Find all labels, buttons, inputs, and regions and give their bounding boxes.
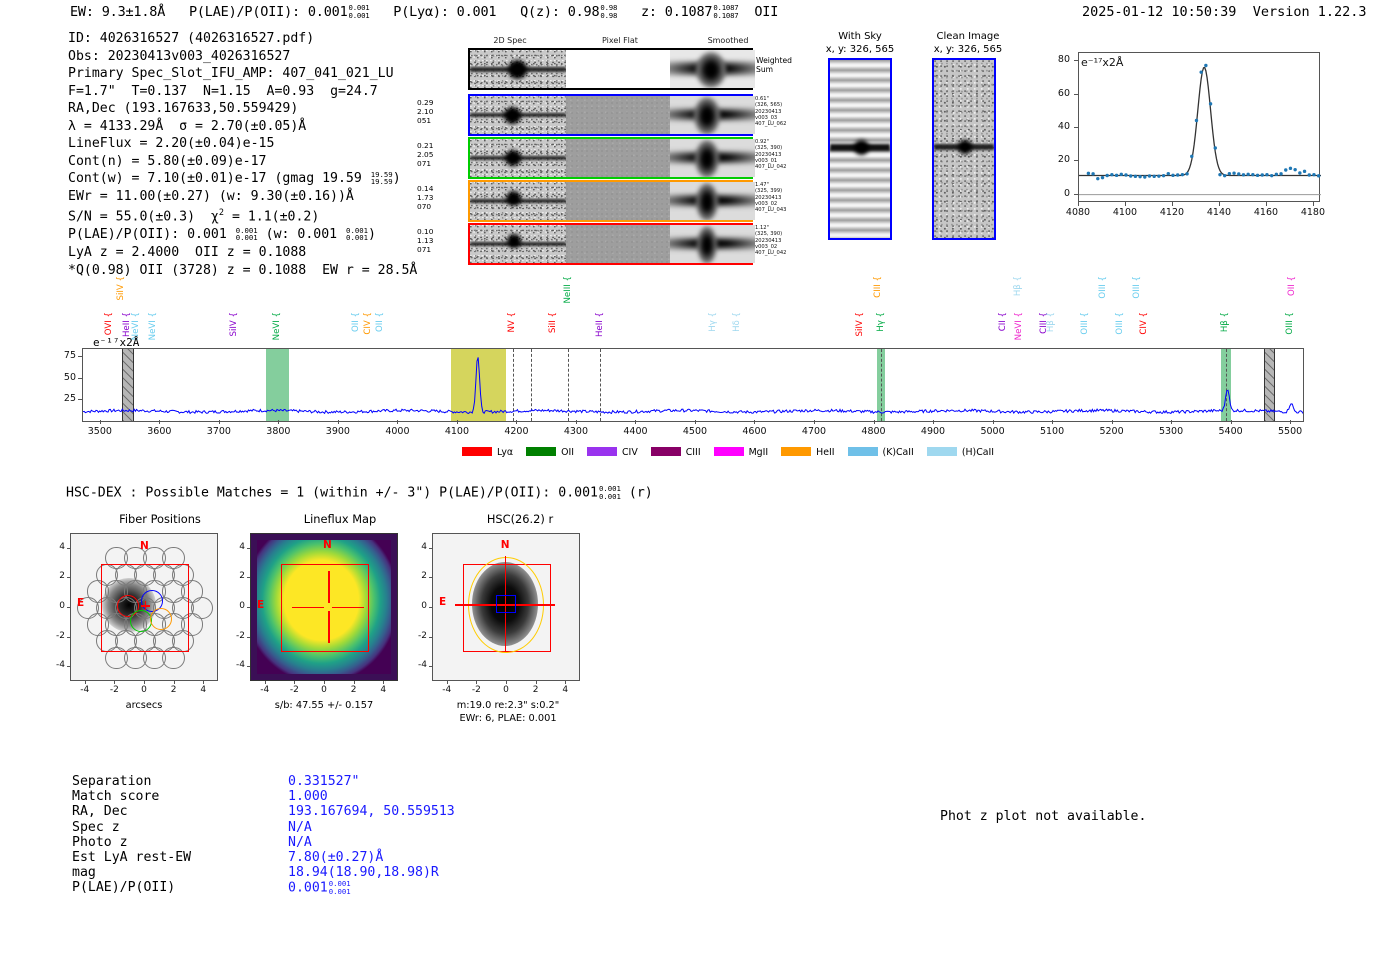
header-plae-poii: P(LAE)/P(OII): 0.001	[189, 4, 348, 20]
info-radec: RA,Dec (193.167633,50.559429)	[68, 100, 417, 118]
cutout-xtick	[324, 681, 325, 684]
sm-core	[695, 140, 719, 177]
spec2d-weighted-sum-row	[468, 48, 753, 90]
ytick-label: 20	[1040, 154, 1070, 165]
right-label: 407_LU_042	[755, 164, 786, 170]
spectrum-xtick	[1171, 420, 1172, 424]
cutout-ytick-label: -2	[408, 631, 427, 641]
spectrum-xtick	[219, 420, 220, 424]
xtick-label: 4080	[1061, 207, 1095, 218]
spectrum-line-label: OII {	[351, 312, 361, 332]
lineflux-map-plot[interactable]: NE	[250, 533, 398, 681]
spectrum-xtick-label: 3600	[137, 426, 181, 437]
match-row-label: RA, Dec	[72, 804, 128, 819]
lineflux-crosshair-top	[328, 571, 330, 603]
raw-blob	[507, 234, 521, 248]
cutout-ytick-label: -2	[226, 631, 245, 641]
cutout-xtick	[203, 681, 204, 684]
cutout-xtick-label: 4	[191, 685, 215, 695]
spec2d-row-right-labels: 1.47"(325, 399)20230413v003_02407_LU_043	[755, 182, 786, 213]
ytick-label: 40	[1040, 121, 1070, 132]
cutout-ytick	[429, 637, 432, 638]
cutout-xtick-label: -2	[282, 685, 306, 695]
cutout-ytick	[429, 548, 432, 549]
cutout-xtick-label: -2	[102, 685, 126, 695]
fiber-crosshair-v	[145, 601, 146, 610]
header-plae-range: 0.0010.001	[349, 4, 370, 19]
spectrum-xtick	[1112, 420, 1113, 424]
spectrum-line-label: NeVI {	[272, 312, 282, 340]
spectrum-xtick-label: 5500	[1268, 426, 1312, 437]
spec2d-row-smoothed	[670, 225, 755, 263]
cutout-xtick-label: 0	[494, 685, 518, 695]
cutout-ytick	[67, 666, 70, 667]
emission-line-axes	[1078, 52, 1320, 202]
legend-swatch	[781, 447, 811, 456]
spec2d-row-smoothed	[670, 96, 755, 134]
cutout-ytick	[67, 607, 70, 608]
spectrum-ytick-label: 25	[48, 393, 76, 404]
legend-label: (H)CaII	[962, 447, 994, 458]
spectrum-xtick-label: 4300	[554, 426, 598, 437]
spectrum-line-label: Hβ {	[1220, 312, 1230, 332]
xtick	[1172, 202, 1173, 206]
spectrum-xtick-label: 4000	[375, 426, 419, 437]
spectrum-line-label: SiIV {	[116, 276, 126, 300]
info-lineflux: LineFlux = 2.20(±0.04)e-15	[68, 135, 417, 153]
xtick	[1078, 202, 1079, 206]
cutout-xtick	[265, 681, 266, 684]
match-row-value: 18.94(18.90,18.98)R	[288, 865, 439, 880]
cutout-ytick-label: 4	[408, 542, 427, 552]
spectrum-xtick	[635, 420, 636, 424]
cutout-xtick-label: -4	[435, 685, 459, 695]
spectrum-xtick	[397, 420, 398, 424]
spectrum-line-label: Hβ {	[1013, 276, 1023, 296]
cutout-ytick	[247, 637, 250, 638]
fiber-east-label: E	[77, 597, 84, 609]
info-redshifts: LyA z = 2.4000 OII z = 0.1088	[68, 244, 417, 262]
cutout-ytick-label: 4	[46, 542, 65, 552]
info-cont-w: Cont(w) = 7.10(±0.01)e-17 (gmag 19.59 19…	[68, 170, 417, 188]
spectrum-xtick	[933, 420, 934, 424]
match-row-value: N/A	[288, 820, 312, 835]
match-row-value: N/A	[288, 835, 312, 850]
spectrum-xtick-label: 4600	[732, 426, 776, 437]
match-row-label: Match score	[72, 789, 159, 804]
cutout-ytick-label: -4	[46, 660, 65, 670]
header-summary-line: EW: 9.3±1.8Å P(LAE)/P(OII): 0.0010.0010.…	[70, 4, 778, 20]
right-label: (325, 390)	[755, 231, 786, 237]
spectrum-legend: LyαOIICIVCIIIMgIIHeII(K)CaII(H)CaII	[462, 447, 1007, 458]
weighted-sum-smoothed	[670, 50, 755, 88]
cutout-xtick	[476, 681, 477, 684]
spectrum-line-label: OIII {	[1080, 312, 1090, 335]
spectrum-line-label: OII {	[375, 312, 385, 332]
legend-swatch	[848, 447, 878, 456]
xtick-label: 4180	[1296, 207, 1330, 218]
legend-item: CIV	[587, 447, 638, 458]
weighted-sum-2dspec	[470, 50, 566, 88]
left-label: 0.21	[417, 141, 433, 150]
cutout-ytick-label: 0	[408, 601, 427, 611]
legend-label: Lyα	[497, 447, 513, 458]
spectrum-xtick-label: 4800	[852, 426, 896, 437]
spectrum-xtick-label: 4700	[792, 426, 836, 437]
ytick-label: 80	[1040, 54, 1070, 65]
match-row-value: 0.331527"	[288, 774, 359, 789]
cutout-xtick	[506, 681, 507, 684]
header-plya: P(Lyα): 0.001	[393, 4, 496, 20]
spectrum-line-label: NeIII {	[563, 276, 573, 304]
cutout-xtick-label: 4	[553, 685, 577, 695]
ytick-label: 60	[1040, 88, 1070, 99]
spectrum-ytick	[78, 399, 82, 400]
timestamp-value: 2025-01-12 10:50:39	[1082, 4, 1236, 20]
detection-info-block: ID: 4026316527 (4026316527.pdf) Obs: 202…	[68, 30, 417, 279]
spectrum-xtick-label: 5300	[1149, 426, 1193, 437]
hsc-title: HSC(26.2) r	[420, 512, 620, 526]
legend-swatch	[714, 447, 744, 456]
spectrum-line-label: NeVI {	[1014, 312, 1024, 340]
spec2d-row[interactable]	[468, 223, 753, 265]
spectrum-ytick	[78, 378, 82, 379]
spectrum-line-label: HeII {	[595, 312, 605, 337]
cutout-xtick	[85, 681, 86, 684]
xtick-label: 4140	[1202, 207, 1236, 218]
fiber-positions-title: Fiber Positions	[60, 512, 260, 526]
spec2d-row-raw	[470, 139, 566, 177]
ytick	[1074, 160, 1078, 161]
xtick	[1219, 202, 1220, 206]
cutout-xtick	[174, 681, 175, 684]
clean-image-title: Clean Image x, y: 326, 565	[916, 30, 1020, 56]
cutout-xtick-label: -4	[253, 685, 277, 695]
cutout-xtick-label: 2	[524, 685, 548, 695]
cutout-ytick-label: 2	[46, 571, 65, 581]
spectrum-axes	[82, 348, 1304, 422]
spectrum-xtick-label: 5400	[1209, 426, 1253, 437]
spectrum-line-label: OVI {	[104, 312, 114, 335]
left-label: 0.29	[417, 98, 433, 107]
cutout-xtick	[114, 681, 115, 684]
match-row-value: 7.80(±0.27)Å	[288, 850, 383, 865]
spec2d-row-raw	[470, 225, 566, 263]
match-row-value: 1.000	[288, 789, 328, 804]
cutout-xtick-label: 2	[162, 685, 186, 695]
legend-swatch	[462, 447, 492, 456]
hsc-north-label: N	[501, 539, 510, 551]
header-species: OII	[754, 4, 778, 20]
legend-label: (K)CaII	[883, 447, 914, 458]
spectrum-line-label: CIII {	[873, 276, 883, 298]
emission-line-units: e⁻¹⁷x2Å	[1081, 56, 1123, 69]
fiber-positions-plot[interactable]: NE	[70, 533, 218, 681]
match-plae-range: 0.0010.001	[329, 880, 351, 895]
info-gmag-range: 19.5919.59	[371, 171, 393, 186]
left-label: 2.05	[417, 150, 433, 159]
cutout-xtick-label: -2	[464, 685, 488, 695]
raw-blob	[504, 107, 521, 124]
match-row-value: 193.167694, 50.559513	[288, 804, 455, 819]
spectrum-xtick	[100, 420, 101, 424]
fiber-xlabel: arcsecs	[84, 700, 204, 711]
fiber-north-label: N	[140, 540, 149, 552]
spectrum-xtick-label: 3700	[197, 426, 241, 437]
emission-line-plot: e⁻¹⁷x2Å 40804100412041404160418002040608…	[1032, 30, 1332, 260]
sm-core	[696, 183, 718, 220]
legend-label: OII	[561, 447, 574, 458]
spec2d-row-left-labels: 0.212.05071	[417, 141, 433, 169]
hsc-detection-marker	[496, 595, 516, 613]
legend-label: CIV	[622, 447, 638, 458]
legend-item: OII	[526, 447, 574, 458]
left-label: 0.14	[417, 184, 433, 193]
cutout-ytick	[67, 548, 70, 549]
spec2d-row-flat	[566, 96, 670, 134]
legend-swatch	[927, 447, 957, 456]
legend-label: HeII	[816, 447, 834, 458]
cutout-xtick-label: -4	[73, 685, 97, 695]
spectrum-xtick	[338, 420, 339, 424]
cutout-ytick	[67, 577, 70, 578]
spectrum-xtick	[1290, 420, 1291, 424]
spectrum-xtick-label: 3500	[78, 426, 122, 437]
legend-item: (H)CaII	[927, 447, 994, 458]
spec2d-row-left-labels: 0.101.13071	[417, 227, 433, 255]
lineflux-map-title: Lineflux Map	[240, 512, 440, 526]
weighted-sum-pixelflat	[566, 50, 670, 88]
spectrum-line-label: CIV {	[1139, 312, 1149, 335]
match-row-label: mag	[72, 865, 96, 880]
left-label: 051	[417, 116, 433, 125]
cutout-ytick	[429, 607, 432, 608]
spectrum-xtick	[874, 420, 875, 424]
info-wavelength: λ = 4133.29Å σ = 2.70(±0.05)Å	[68, 118, 417, 136]
hscdex-plae-range: 0.0010.001	[599, 485, 621, 500]
spectrum-line-label: Hγ {	[876, 312, 886, 332]
spectrum-xtick	[1052, 420, 1053, 424]
cutout-xtick	[447, 681, 448, 684]
spectrum-line-label: OIII {	[1285, 312, 1295, 335]
spec2d-row-flat	[566, 182, 670, 220]
hscdex-summary-line: HSC-DEX : Possible Matches = 1 (within +…	[66, 485, 653, 501]
xtick-label: 4120	[1155, 207, 1189, 218]
spectrum-line-label: NV {	[507, 312, 517, 333]
spectrum-xtick	[278, 420, 279, 424]
lineflux-crosshair-left	[292, 607, 324, 609]
legend-swatch	[526, 447, 556, 456]
spec2d-row-raw	[470, 96, 566, 134]
cutout-ytick-label: -4	[226, 660, 245, 670]
info-observing-params: F=1.7" T=0.137 N=1.15 A=0.93 g=24.7	[68, 83, 417, 101]
ytick	[1074, 194, 1078, 195]
spec2d-row-flat	[566, 139, 670, 177]
info-plae-poii: P(LAE)/P(OII): 0.001 0.0010.001 (w: 0.00…	[68, 226, 417, 244]
spectrum-xtick	[576, 420, 577, 424]
col-title-pixelflat: Pixel Flat	[572, 36, 668, 45]
legend-swatch	[651, 447, 681, 456]
spectrum-ytick-label: 50	[48, 372, 76, 383]
cutout-xtick	[294, 681, 295, 684]
spectrum-line-label: NeVI {	[148, 312, 158, 340]
xtick-label: 4100	[1108, 207, 1142, 218]
spectrum-xtick-label: 4200	[494, 426, 538, 437]
spec2d-row[interactable]	[468, 180, 753, 222]
with-sky-image	[828, 58, 892, 240]
spectrum-line-label: OIII {	[1115, 312, 1125, 335]
emission-line-svg	[1079, 53, 1321, 203]
report-timestamp: 2025-01-12 10:50:39 Version 1.22.3	[1082, 4, 1367, 20]
sm-core	[697, 226, 717, 263]
left-label: 2.10	[417, 107, 433, 116]
lineflux-east-label: E	[257, 599, 264, 611]
spectrum-line-label: Hβ {	[1046, 312, 1056, 332]
left-label: 0.10	[417, 227, 433, 236]
cutout-ytick	[429, 577, 432, 578]
spectrum-xtick	[516, 420, 517, 424]
lineflux-caption: s/b: 47.55 +/- 0.157	[254, 700, 394, 711]
right-label: 407_LU_062	[755, 121, 786, 127]
right-label: (325, 399)	[755, 188, 786, 194]
info-snr-chi2: S/N = 55.0(±0.3) χ2 = 1.1(±0.2)	[68, 205, 417, 226]
cutout-xtick	[536, 681, 537, 684]
spectrum-ytick-label: 75	[48, 350, 76, 361]
cutout-ytick-label: -2	[46, 631, 65, 641]
info-ewr: EWr = 11.00(±0.27) (w: 9.30(±0.16))Å	[68, 188, 417, 206]
spectrum-units: e⁻¹⁷x2Å	[93, 336, 139, 349]
spec2d-row-flat	[566, 225, 670, 263]
header-ew: EW: 9.3±1.8Å	[70, 4, 165, 20]
legend-label: MgII	[749, 447, 769, 458]
left-label: 070	[417, 202, 433, 211]
spectrum-line-label: OIII {	[1132, 276, 1142, 299]
cutout-ytick	[247, 577, 250, 578]
cutout-ytick	[247, 607, 250, 608]
cutout-ytick	[429, 666, 432, 667]
spec2d-row-left-labels: 0.141.73070	[417, 184, 433, 212]
info-id: ID: 4026316527 (4026316527.pdf)	[68, 30, 417, 48]
legend-item: HeII	[781, 447, 834, 458]
ytick-label: 0	[1040, 188, 1070, 199]
spectrum-xtick	[457, 420, 458, 424]
spectrum-line-label: Hδ {	[732, 312, 742, 332]
spec2d-row-left-labels: 0.292.10051	[417, 98, 433, 126]
version-value: Version 1.22.3	[1253, 4, 1367, 20]
match-row-value: 0.0010.0010.001	[288, 880, 351, 896]
header-qz: Q(z): 0.98	[520, 4, 599, 20]
spectrum-line-label: SiII {	[548, 312, 558, 333]
left-label: 071	[417, 245, 433, 254]
cutout-xtick	[354, 681, 355, 684]
spectrum-xtick	[754, 420, 755, 424]
col-title-smoothed: Smoothed	[680, 36, 776, 45]
ytick	[1074, 94, 1078, 95]
xtick-label: 4160	[1249, 207, 1283, 218]
legend-item: CIII	[651, 447, 701, 458]
raw-blob	[506, 191, 521, 206]
cutout-ytick-label: -4	[408, 660, 427, 670]
ytick	[1074, 127, 1078, 128]
spectrum-xtick-label: 5100	[1030, 426, 1074, 437]
hscdex-text: HSC-DEX : Possible Matches = 1 (within +…	[66, 486, 598, 501]
sm-core	[694, 97, 720, 134]
xtick	[1313, 202, 1314, 206]
match-row-label: Photo z	[72, 835, 128, 850]
spec2d-row-right-labels: 0.92"(325, 390)20230413v003_01407_LU_042	[755, 139, 786, 170]
spectrum-line-label: OIII {	[1098, 276, 1108, 299]
spectrum-xtick-label: 5000	[971, 426, 1015, 437]
cutout-ytick	[247, 548, 250, 549]
photz-plot-message: Phot z plot not available.	[940, 809, 1146, 824]
legend-item: MgII	[714, 447, 769, 458]
spectrum-xtick-label: 3800	[256, 426, 300, 437]
cutout-ytick-label: 2	[408, 571, 427, 581]
cutout-xtick	[383, 681, 384, 684]
cutout-ytick-label: 2	[226, 571, 245, 581]
header-z-range: 0.10870.1087	[713, 4, 738, 19]
spectrum-line-label: Hγ {	[708, 312, 718, 332]
cutout-xtick-label: 2	[342, 685, 366, 695]
cutout-xtick	[565, 681, 566, 684]
raw-blob	[505, 150, 521, 166]
clean-image	[932, 58, 996, 240]
header-qz-range: 0.980.98	[600, 4, 617, 19]
spec2d-row-right-labels: 1.12"(325, 390)20230413v003_02407_LU_042	[755, 225, 786, 256]
spectrum-line-label: OII {	[1287, 276, 1297, 296]
lineflux-crosshair-bottom	[328, 611, 330, 643]
right-label: (325, 390)	[755, 145, 786, 151]
cutout-ytick-label: 0	[46, 601, 65, 611]
spectrum-xtick-label: 4100	[435, 426, 479, 437]
cutout-xtick-label: 0	[132, 685, 156, 695]
cutout-ytick-label: 4	[226, 542, 245, 552]
spec2d-row[interactable]	[468, 137, 753, 179]
cutout-xtick	[144, 681, 145, 684]
right-label: 407_LU_042	[755, 250, 786, 256]
spectrum-line-label: CII {	[998, 312, 1008, 331]
hsc-image-plot[interactable]: NE	[432, 533, 580, 681]
cutout-xtick-label: 0	[312, 685, 336, 695]
spectrum-xtick	[814, 420, 815, 424]
spectrum-xtick-label: 4400	[613, 426, 657, 437]
hsc-caption-1: m:19.0 re:2.3" s:0.2"	[434, 700, 582, 711]
cutout-ytick	[247, 666, 250, 667]
left-label: 071	[417, 159, 433, 168]
left-label: 1.73	[417, 193, 433, 202]
spectrum-xtick-label: 4500	[673, 426, 717, 437]
with-sky-title: With Sky x, y: 326, 565	[812, 30, 908, 56]
hsc-caption-2: EWr: 6, PLAE: 0.001	[434, 713, 582, 724]
lineflux-north-label: N	[323, 539, 332, 551]
legend-item: Lyα	[462, 447, 513, 458]
info-primary-spec: Primary Spec_Slot_IFU_AMP: 407_041_021_L…	[68, 65, 417, 83]
cutout-ytick-label: 0	[226, 601, 245, 611]
spectrum-xtick-label: 3900	[316, 426, 360, 437]
header-z: z: 0.1087	[641, 4, 712, 20]
xtick	[1266, 202, 1267, 206]
left-label: 1.13	[417, 236, 433, 245]
spec2d-row[interactable]	[468, 94, 753, 136]
legend-label: CIII	[686, 447, 701, 458]
spec2d-row-raw	[470, 182, 566, 220]
spectrum-xtick-label: 5200	[1090, 426, 1134, 437]
lineflux-crosshair-right	[332, 607, 364, 609]
spectrum-xtick-label: 4900	[911, 426, 955, 437]
hsc-east-label: E	[439, 596, 446, 608]
spectrum-line-label: SiIV {	[229, 312, 239, 336]
spectrum-xtick	[695, 420, 696, 424]
